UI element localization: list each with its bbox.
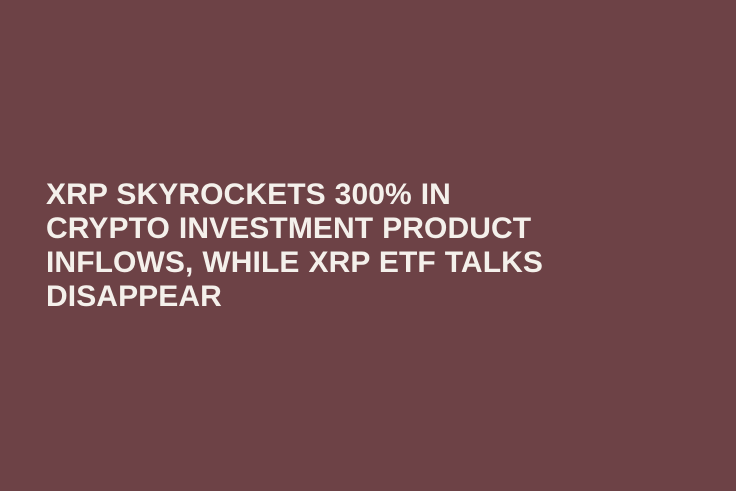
headline-line-3: INFLOWS, WHILE XRP ETF TALKS (46, 246, 646, 280)
headline-line-1: XRP SKYROCKETS 300% IN (46, 178, 646, 212)
headline-line-2: CRYPTO INVESTMENT PRODUCT (46, 212, 646, 246)
headline: XRP SKYROCKETS 300% IN CRYPTO INVESTMENT… (46, 178, 646, 314)
headline-line-4: DISAPPEAR (46, 280, 646, 314)
article-hero-card: XRP SKYROCKETS 300% IN CRYPTO INVESTMENT… (0, 0, 736, 491)
